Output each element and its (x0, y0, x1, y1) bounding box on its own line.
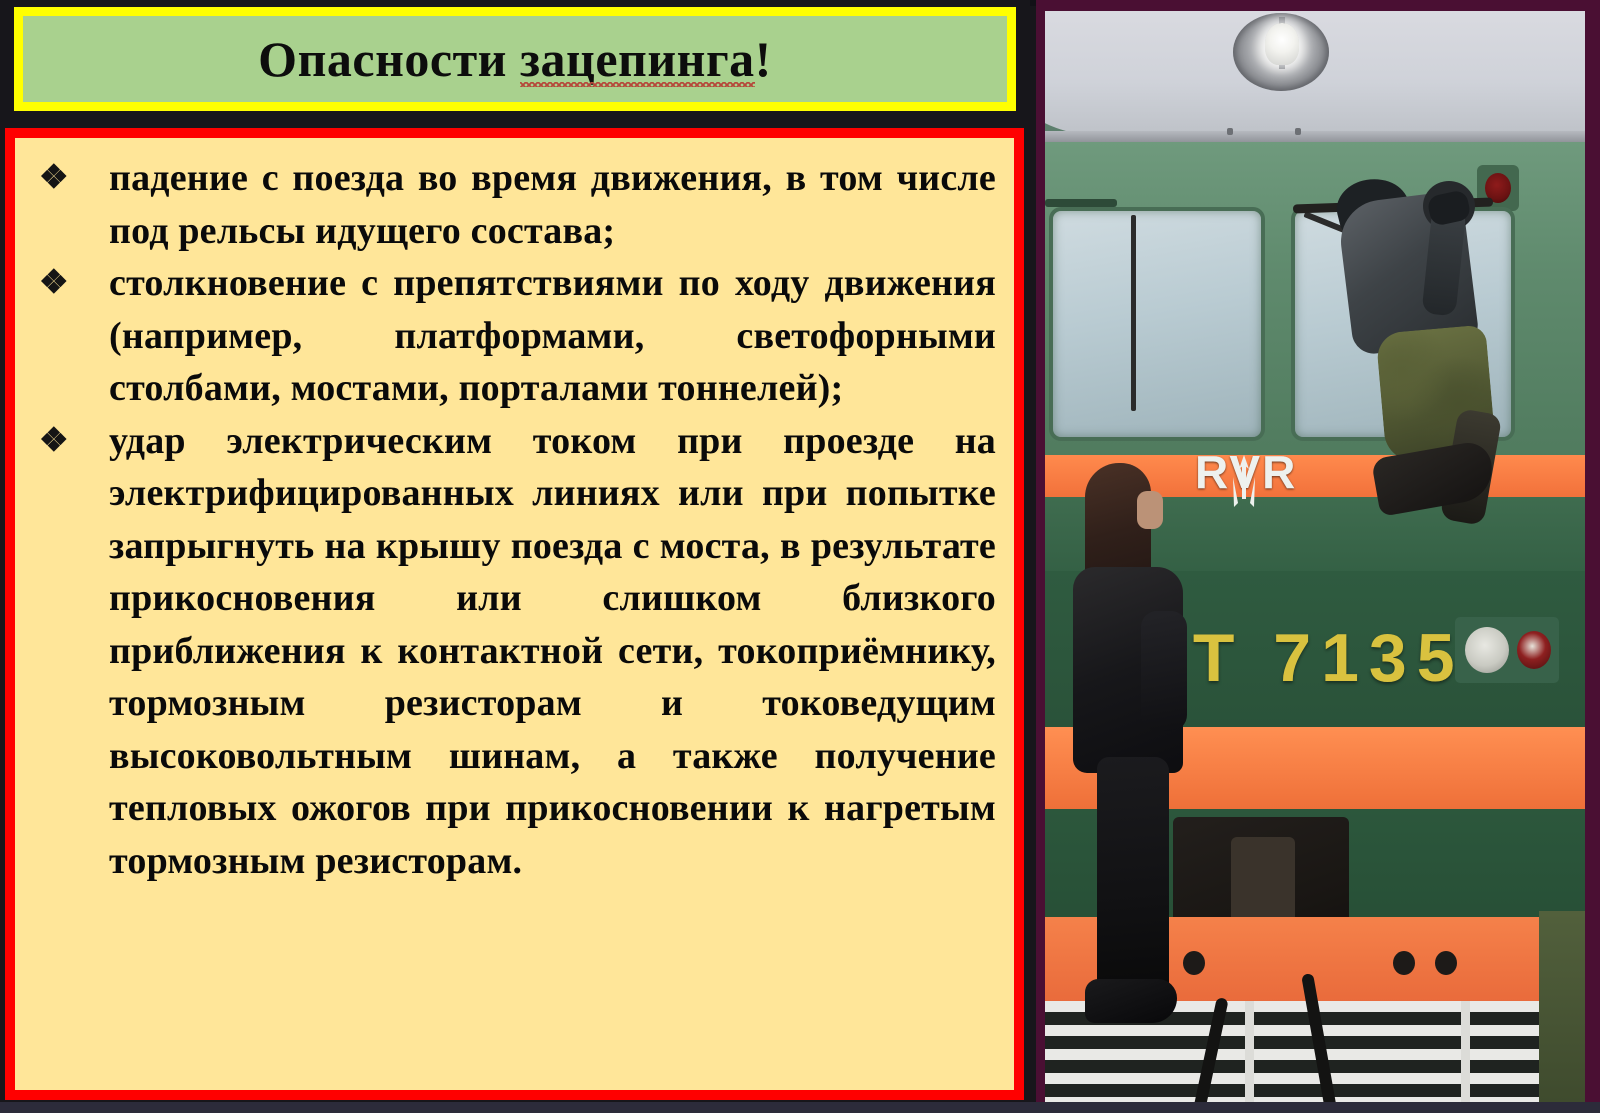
red-signal-lamp (1517, 631, 1551, 669)
diamond-bullet-icon: ❖ (39, 415, 69, 468)
headlight-bulb (1265, 23, 1299, 65)
apron-hole (1393, 951, 1415, 975)
page-title: Опасности зацепинга! (258, 34, 772, 84)
list-item: ❖ падение с поезда во время движения, в … (25, 152, 996, 257)
grill-post (1245, 1001, 1254, 1109)
roof-rivet (1295, 128, 1301, 135)
rvr-trident-icon (1231, 455, 1257, 511)
title-banner: Опасности зацепинга! (14, 7, 1016, 111)
windshield-wiper (1131, 215, 1136, 411)
list-item: ❖ удар электрическим током при проезде н… (25, 415, 996, 888)
slide: Опасности зацепинга! ❖ падение с поезда … (0, 0, 1600, 1113)
title-prefix: Опасности (258, 31, 520, 87)
danger-list: ❖ падение с поезда во время движения, в … (15, 138, 1014, 887)
grill-post (1461, 1001, 1470, 1109)
title-misspelled-word: зацепинга (520, 34, 755, 84)
bystander-shoe (1085, 979, 1177, 1023)
train-number-text: 2Т 7135 (1145, 619, 1465, 697)
mirror-bracket (1045, 199, 1117, 207)
apron-hole (1435, 951, 1457, 975)
trackside-grass (1539, 911, 1585, 1109)
slide-bottom-edge (0, 1102, 1600, 1113)
roof-rivet (1227, 128, 1233, 135)
diamond-bullet-icon: ❖ (39, 257, 69, 310)
cab-window-left (1049, 207, 1265, 441)
list-item-text: столкновение с препятствиями по ходу дви… (109, 257, 996, 415)
text-column: Опасности зацепинга! ❖ падение с поезда … (0, 0, 1030, 1113)
apron-hole (1183, 951, 1205, 975)
train-photograph: RVR 2Т 7135 (1045, 11, 1585, 1109)
content-panel: ❖ падение с поезда во время движения, в … (5, 128, 1024, 1100)
diamond-bullet-icon: ❖ (39, 152, 69, 205)
title-suffix: ! (755, 31, 772, 87)
list-item-text: падение с поезда во время движения, в то… (109, 152, 996, 257)
white-signal-lamp (1465, 627, 1509, 673)
photo-frame: RVR 2Т 7135 (1036, 0, 1600, 1113)
list-item-text: удар электрическим током при проезде на … (109, 415, 996, 888)
list-item: ❖ столкновение с препятствиями по ходу д… (25, 257, 996, 415)
bystander-sleeve (1141, 611, 1187, 731)
bystander-legs (1097, 757, 1169, 1001)
bystander-face (1137, 491, 1163, 529)
